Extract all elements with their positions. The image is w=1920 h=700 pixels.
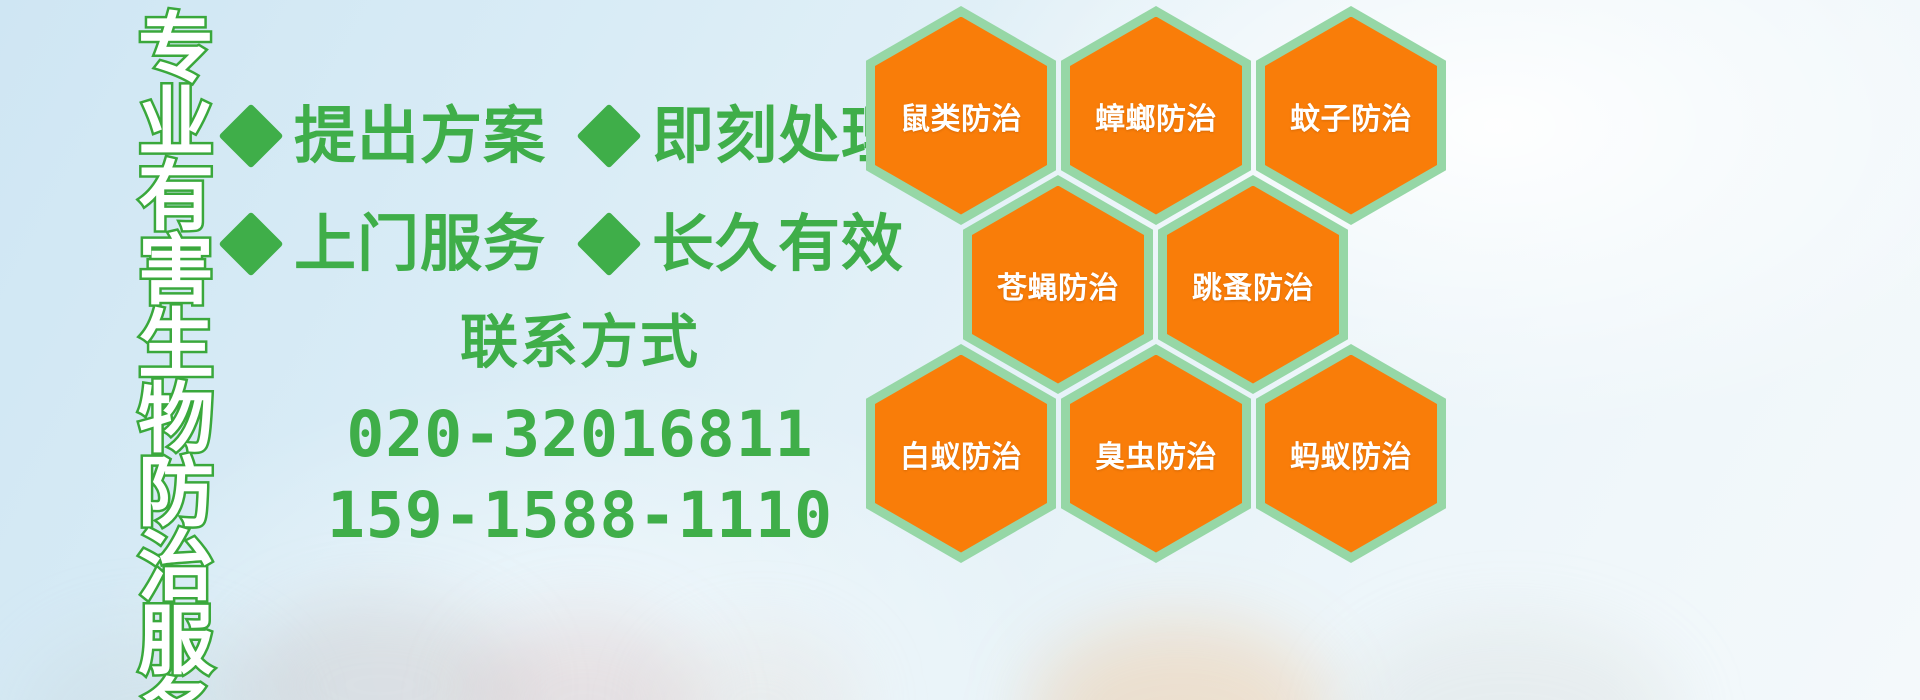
feature-label: 提出方案: [294, 105, 546, 167]
hex-cell-ant-control[interactable]: 蚂蚁防治: [1256, 344, 1446, 563]
hex-inner: 鼠类防治: [875, 17, 1047, 215]
hex-label: 蟑螂防治: [1095, 94, 1217, 138]
background-blur-blob: [660, 630, 860, 700]
hex-inner: 白蚁防治: [875, 355, 1047, 553]
hex-cell-fly-control[interactable]: 苍蝇防治: [963, 175, 1153, 394]
hex-inner: 蚊子防治: [1265, 17, 1437, 215]
hex-inner: 臭虫防治: [1070, 355, 1242, 553]
feature-row: 上门服务 长久有效: [228, 190, 868, 298]
hex-label: 白蚁防治: [900, 432, 1022, 476]
diamond-bullet-icon: [218, 211, 283, 276]
diamond-bullet-icon: [576, 103, 641, 168]
hex-label: 臭虫防治: [1095, 432, 1217, 476]
background-blur-blob: [1340, 620, 1680, 700]
background-blur-blob: [240, 600, 520, 700]
hex-cell-termite-control[interactable]: 白蚁防治: [866, 344, 1056, 563]
feature-label: 上门服务: [294, 213, 546, 275]
hex-cell-bedbug-control[interactable]: 臭虫防治: [1061, 344, 1251, 563]
hex-label: 蚂蚁防治: [1290, 432, 1412, 476]
hex-cell-rodent-control[interactable]: 鼠类防治: [866, 6, 1056, 225]
hex-cell-flea-control[interactable]: 跳蚤防治: [1158, 175, 1348, 394]
contact-block: 联系方式 020-32016811 159-1588-1110: [300, 312, 860, 556]
diamond-bullet-icon: [576, 211, 641, 276]
hex-inner: 蟑螂防治: [1070, 17, 1242, 215]
vertical-headline: 专业有害生物防治服务: [104, 8, 204, 700]
hex-label: 苍蝇防治: [997, 263, 1119, 307]
hex-inner: 苍蝇防治: [972, 186, 1144, 384]
phone-number-mobile[interactable]: 159-1588-1110: [300, 476, 860, 557]
hex-label: 鼠类防治: [900, 94, 1022, 138]
hex-cell-mosquito-control[interactable]: 蚊子防治: [1256, 6, 1446, 225]
feature-item-onsite-service: 上门服务: [228, 213, 546, 275]
feature-list: 提出方案 即刻处理 上门服务 长久有效: [228, 82, 868, 298]
contact-heading: 联系方式: [300, 312, 860, 373]
hex-label: 蚊子防治: [1290, 94, 1412, 138]
hex-inner: 跳蚤防治: [1167, 186, 1339, 384]
hex-cell-cockroach-control[interactable]: 蟑螂防治: [1061, 6, 1251, 225]
service-honeycomb: 鼠类防治 蟑螂防治 蚊子防治 苍蝇防治 跳蚤防治 白蚁防: [858, 0, 1458, 558]
promo-banner: 专业有害生物防治服务 提出方案 即刻处理 上门服务 长久有效 联系方式: [0, 0, 1920, 700]
feature-row: 提出方案 即刻处理: [228, 82, 868, 190]
feature-item-long-lasting: 长久有效: [586, 213, 904, 275]
hex-inner: 蚂蚁防治: [1265, 355, 1437, 553]
feature-item-immediate-handling: 即刻处理: [586, 105, 904, 167]
phone-number-landline[interactable]: 020-32016811: [300, 395, 860, 476]
diamond-bullet-icon: [218, 103, 283, 168]
hex-label: 跳蚤防治: [1192, 263, 1314, 307]
background-blur-blob: [1030, 620, 1330, 700]
feature-item-propose-plan: 提出方案: [228, 105, 546, 167]
background-blur-blob: [470, 615, 700, 700]
